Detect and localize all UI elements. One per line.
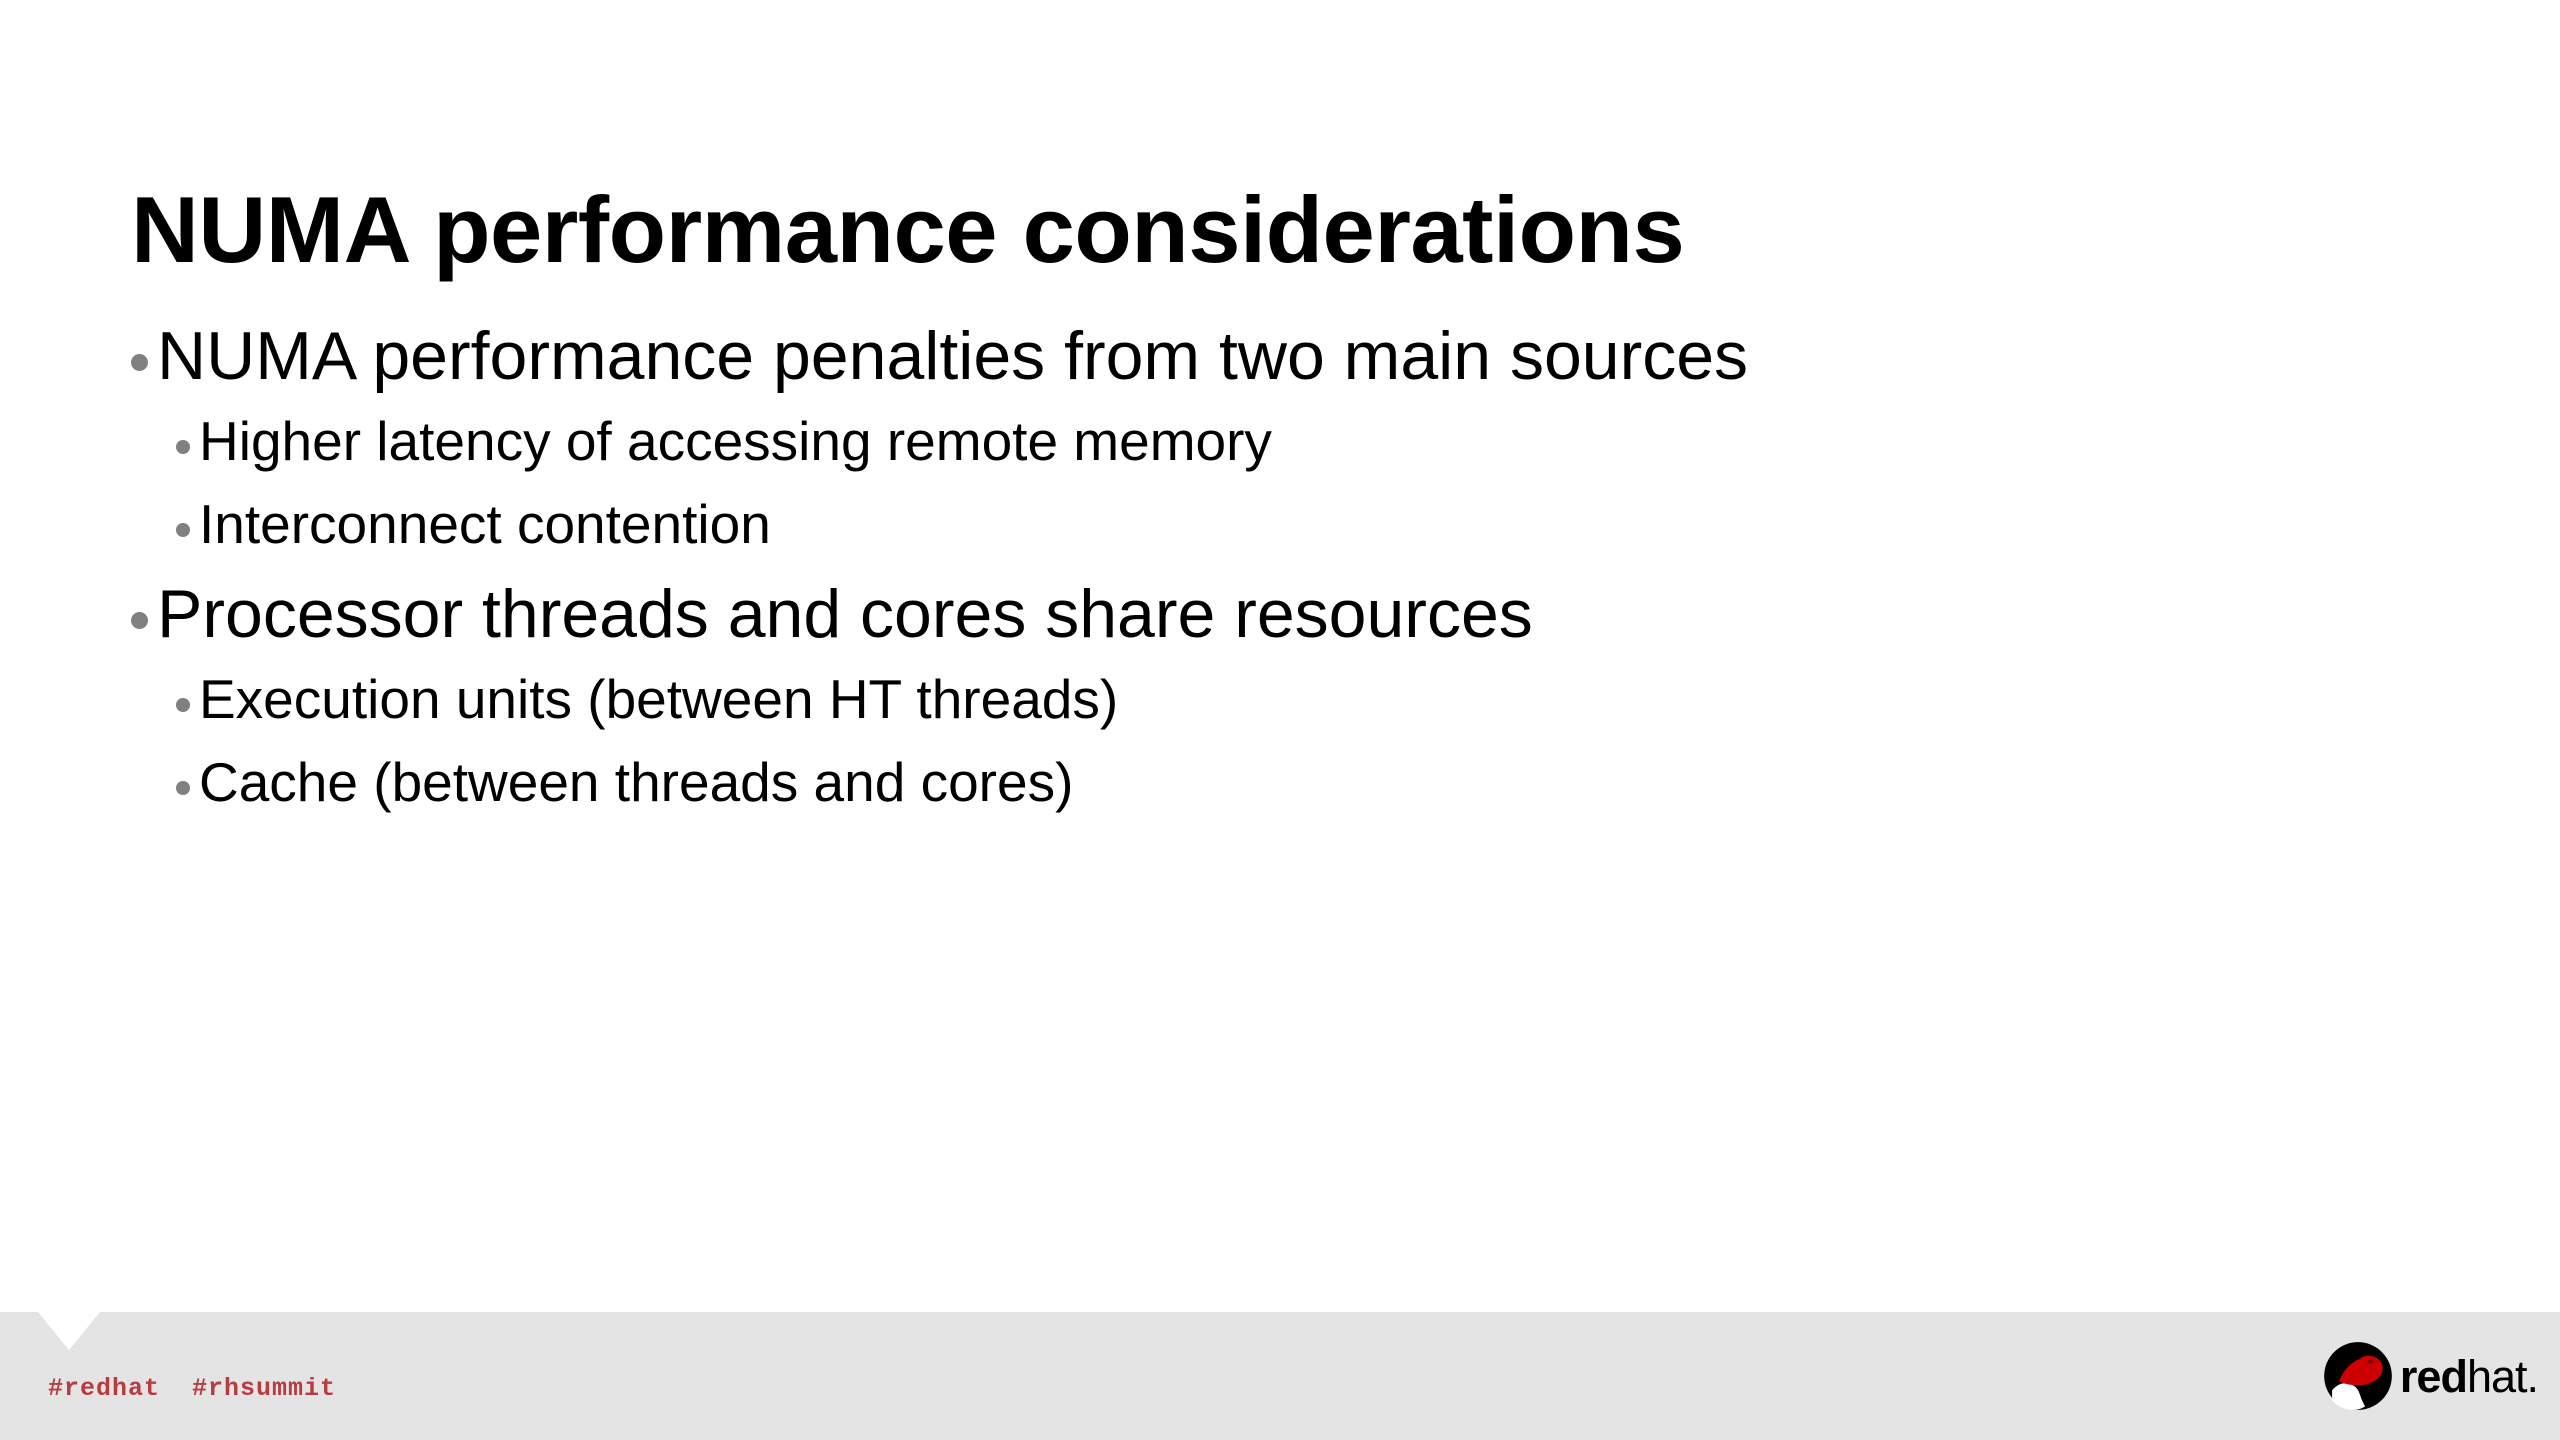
wordmark-red: red — [2400, 1351, 2467, 1402]
bullet-dot-icon — [176, 523, 190, 537]
bullet-text: Interconnect contention — [199, 497, 2431, 552]
bullet-text: NUMA performance penalties from two main… — [157, 322, 2431, 390]
bullet-item: Processor threads and cores share resour… — [131, 580, 2431, 672]
shadowman-icon — [2322, 1340, 2394, 1412]
bullet-dot-icon — [176, 698, 190, 712]
page-title: NUMA performance considerations — [131, 181, 2411, 280]
bullet-dot-icon — [176, 781, 190, 795]
bullet-item: Cache (between threads and cores) — [131, 755, 2431, 838]
bullet-text: Cache (between threads and cores) — [199, 755, 2431, 810]
wordmark-hat: hat. — [2467, 1351, 2538, 1402]
bullet-dot-icon — [131, 612, 148, 629]
bullet-text: Processor threads and cores share resour… — [157, 580, 2431, 648]
bullet-item: Execution units (between HT threads) — [131, 672, 2431, 755]
footer-hashtags: #redhat #rhsummit — [48, 1374, 336, 1403]
bullet-text: Higher latency of accessing remote memor… — [199, 414, 2431, 469]
redhat-logo: redhat. — [2322, 1338, 2538, 1414]
bullet-item: Higher latency of accessing remote memor… — [131, 414, 2431, 497]
slide-body: NUMA performance penalties from two main… — [131, 322, 2431, 838]
bullet-dot-icon — [131, 354, 148, 371]
slide: NUMA performance considerations NUMA per… — [0, 0, 2560, 1440]
bullet-item: NUMA performance penalties from two main… — [131, 322, 2431, 414]
bullet-dot-icon — [176, 440, 190, 454]
footer-notch-triangle — [38, 1312, 100, 1350]
bullet-item: Interconnect contention — [131, 497, 2431, 580]
bullet-text: Execution units (between HT threads) — [199, 672, 2431, 727]
redhat-wordmark: redhat. — [2400, 1354, 2538, 1399]
slide-footer: #redhat #rhsummit redhat. — [0, 1312, 2560, 1440]
